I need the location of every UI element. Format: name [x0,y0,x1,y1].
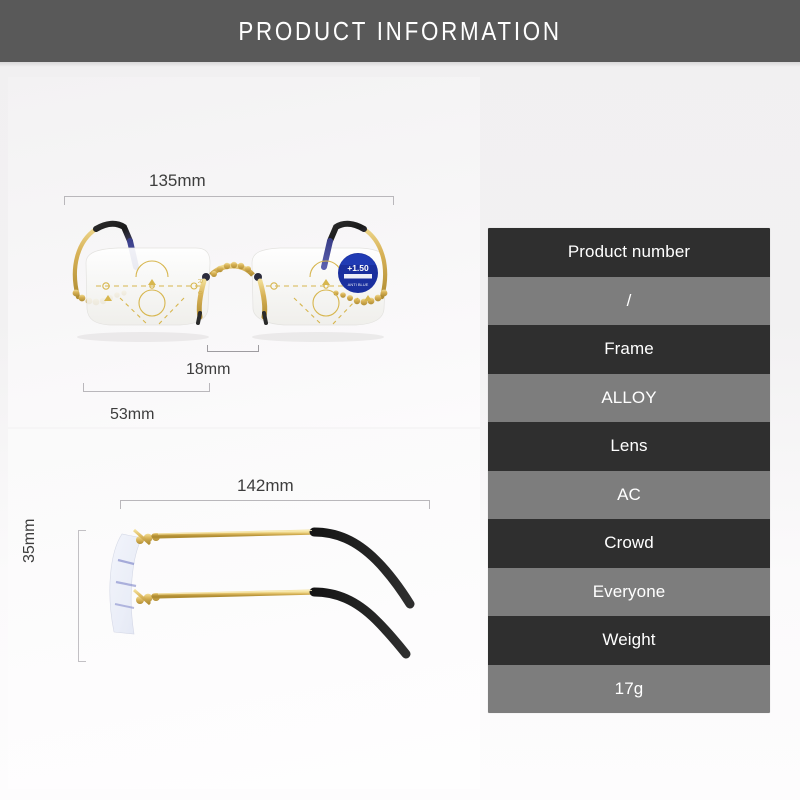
rimless-eyeglasses-side-view-image [88,512,443,662]
spec-row: Lens [488,422,770,471]
dimension-bracket-total-width [64,196,394,205]
svg-text:ANTI BLUE: ANTI BLUE [348,282,369,287]
svg-text:+1.50: +1.50 [347,263,369,273]
dimension-label-bridge-width: 18mm [186,361,230,379]
spec-row-label: / [627,291,632,311]
dimension-label-temple-length: 142mm [237,476,294,496]
spec-row-label: 17g [615,679,644,699]
dimension-bracket-bridge-width [207,345,259,352]
spec-row: Frame [488,325,770,374]
dimension-bracket-temple-length [120,500,430,509]
spec-row: Crowd [488,519,770,568]
spec-row-label: Weight [602,630,655,650]
svg-text:R: R [196,279,202,284]
spec-row-label: Everyone [593,582,666,602]
page-title: PRODUCT INFORMATION [238,16,562,47]
dimension-label-total-width: 135mm [149,171,206,191]
product-spec-table: Product number / Frame ALLOY Lens AC Cro… [488,228,770,713]
spec-row-label: Lens [610,436,647,456]
dimension-bracket-lens-width [83,383,210,392]
product-information-page: PRODUCT INFORMATION [0,0,800,800]
spec-row-label: Crowd [604,533,654,553]
rimless-eyeglasses-front-view-image: R 0 +1.50 ANTI BLUE [48,205,412,345]
spec-row: Weight [488,616,770,665]
spec-row: / [488,277,770,326]
spec-row: Product number [488,228,770,277]
spec-row: 17g [488,665,770,714]
spec-row: AC [488,471,770,520]
page-header: PRODUCT INFORMATION [0,0,800,62]
spec-row-label: ALLOY [601,388,656,408]
dimension-label-lens-width: 53mm [110,406,154,424]
spec-row-label: Frame [604,339,654,359]
spec-row: Everyone [488,568,770,617]
lens-power-sticker: +1.50 ANTI BLUE [338,253,378,293]
spec-row-label: AC [617,485,641,505]
spec-row-label: Product number [568,242,690,262]
dimension-label-lens-height: 35mm [21,519,39,563]
dimension-bracket-lens-height [78,530,86,662]
product-image-panel [0,67,488,800]
spec-row: ALLOY [488,374,770,423]
